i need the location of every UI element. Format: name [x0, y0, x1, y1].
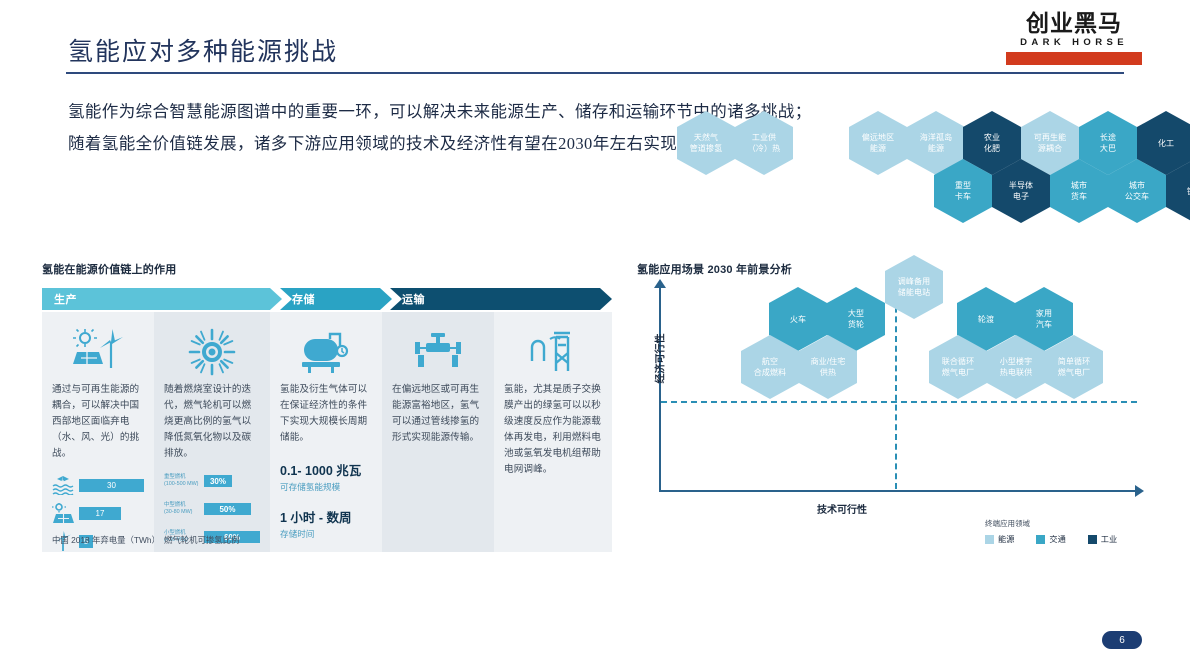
- panel-storage: 氢能及衍生气体可以在保证经济性的条件下实现大规模长周期储能。 0.1- 1000…: [270, 312, 382, 552]
- hexagon-node[interactable]: 调峰备用储能电站: [885, 255, 943, 319]
- horizontal-threshold-line: [661, 401, 1137, 403]
- bar-value-hydro: 30: [79, 479, 144, 492]
- legend-label-transport: 交通: [1049, 533, 1065, 545]
- hydro-icon: [52, 475, 76, 495]
- chevron-production: 生产: [42, 288, 282, 310]
- page-title: 氢能应对多种能源挑战: [68, 32, 338, 68]
- title-divider: [66, 72, 1124, 74]
- legend-item-industry: 工业: [1088, 533, 1117, 545]
- panel-production-renewables: 通过与可再生能源的耦合，可以解决中国西部地区面临弃电（水、风、光）的挑战。 30: [42, 312, 154, 552]
- turbine-bar-heavy-value: 30%: [204, 475, 232, 487]
- panel-3-stat-2-label: 存储时间: [280, 528, 372, 540]
- brand-logo: 创业黑马 DARK HORSE: [1006, 12, 1142, 65]
- panel-1-footer: 中国 2018 年弃电量（TWh）: [52, 534, 160, 546]
- x-axis-arrow: [1135, 485, 1144, 497]
- legend-swatch-transport: [1036, 535, 1045, 544]
- legend-swatch-industry: [1088, 535, 1097, 544]
- panel-4-body: 在偏远地区或可再生能源富裕地区，氢气可以通过管线掺氢的形式实现能源传输。: [392, 382, 484, 446]
- panel-3-stat-2-value: 1 小时 - 数周: [280, 507, 372, 526]
- panel-gas-turbine: 随着燃烧室设计的迭代，燃气轮机可以燃烧更高比例的氢气以降低氮氧化物以及碳排放。 …: [154, 312, 270, 552]
- chevron-production-label: 生产: [42, 291, 77, 307]
- solar-icon: [52, 503, 76, 523]
- page-number-badge: 6: [1102, 631, 1142, 649]
- panel-3-stat-1-value: 0.1- 1000 兆瓦: [280, 460, 372, 479]
- chevron-storage: 存储: [280, 288, 392, 310]
- panel-1-body: 通过与可再生能源的耦合，可以解决中国西部地区面临弃电（水、风、光）的挑战。: [52, 382, 144, 462]
- panel-5-body: 氢能，尤其是质子交换膜产出的绿氢可以以秒级速度反应作为能源载体再发电，利用燃料电…: [504, 382, 602, 478]
- turbine-bar-medium-value: 50%: [204, 503, 251, 515]
- chevron-transport: 运输: [390, 288, 612, 310]
- legend-item-transport: 交通: [1036, 533, 1065, 545]
- chevron-storage-label: 存储: [280, 291, 315, 307]
- vertical-threshold-line: [895, 287, 897, 489]
- panel-2-body: 随着燃烧室设计的迭代，燃气轮机可以燃烧更高比例的氢气以降低氮氧化物以及碳排放。: [164, 382, 260, 462]
- bar-value-solar: 17: [79, 507, 121, 520]
- bar-row-hydro: 30: [52, 474, 144, 496]
- solar-wind-icon: [52, 322, 144, 382]
- x-axis-line: [659, 490, 1137, 492]
- turbine-bar-medium: 中型燃机(30-80 MW) 50%: [164, 498, 260, 520]
- power-grid-icon: [504, 322, 602, 382]
- pipeline-valve-icon: [392, 322, 484, 382]
- panel-2-footer: 燃气轮机可掺氢比例: [164, 534, 239, 546]
- right-chart-caption: 氢能应用场景 2030 年前景分析: [637, 261, 792, 277]
- legend-items: 能源 交通 工业: [985, 533, 1117, 545]
- panel-pipeline: 在偏远地区或可再生能源富裕地区，氢气可以通过管线掺氢的形式实现能源传输。: [382, 312, 494, 552]
- chevron-transport-label: 运输: [390, 291, 425, 307]
- turbine-bar-heavy: 重型燃机(100-500 MW) 30%: [164, 470, 260, 492]
- logo-english-text: DARK HORSE: [1006, 37, 1142, 48]
- left-chart-caption: 氢能在能源价值链上的作用: [42, 261, 176, 277]
- legend-swatch-energy: [985, 535, 994, 544]
- panel-3-body: 氢能及衍生气体可以在保证经济性的条件下实现大规模长周期储能。: [280, 382, 372, 446]
- hydrogen-application-matrix: 经济可行性 技术可行性 天然气管道掺氢工业供（冷）热偏远地区能源海洋孤岛能源农业…: [637, 285, 1147, 515]
- turbine-bar-heavy-label: 重型燃机(100-500 MW): [164, 474, 204, 488]
- legend-item-energy: 能源: [985, 533, 1014, 545]
- panel-power-grid: 氢能，尤其是质子交换膜产出的绿氢可以以秒级速度反应作为能源载体再发电，利用燃料电…: [494, 312, 612, 552]
- panel-3-stat-1-label: 可存储氢能规模: [280, 481, 372, 493]
- logo-chinese-text: 创业黑马: [1006, 12, 1142, 36]
- logo-accent-bar: [1006, 52, 1142, 65]
- legend-title: 终端应用领域: [985, 518, 1117, 529]
- y-axis-arrow: [654, 279, 666, 288]
- y-axis-label: 经济可行性: [652, 319, 667, 399]
- slide: 氢能应对多种能源挑战 创业黑马 DARK HORSE 氢能作为综合智慧能源图谱中…: [0, 0, 1190, 669]
- turbine-bar-medium-label: 中型燃机(30-80 MW): [164, 502, 204, 516]
- value-chain-panels: 通过与可再生能源的耦合，可以解决中国西部地区面临弃电（水、风、光）的挑战。 30: [42, 312, 612, 552]
- value-chain-chevron-bar: 生产 存储 运输: [42, 288, 612, 310]
- turbine-icon: [164, 322, 260, 382]
- legend-label-energy: 能源: [998, 533, 1014, 545]
- x-axis-label: 技术可行性: [817, 501, 867, 516]
- bar-row-solar: 17: [52, 502, 144, 524]
- legend-label-industry: 工业: [1101, 533, 1117, 545]
- chart-legend: 终端应用领域 能源 交通 工业: [985, 518, 1117, 545]
- storage-tank-icon: [280, 322, 372, 382]
